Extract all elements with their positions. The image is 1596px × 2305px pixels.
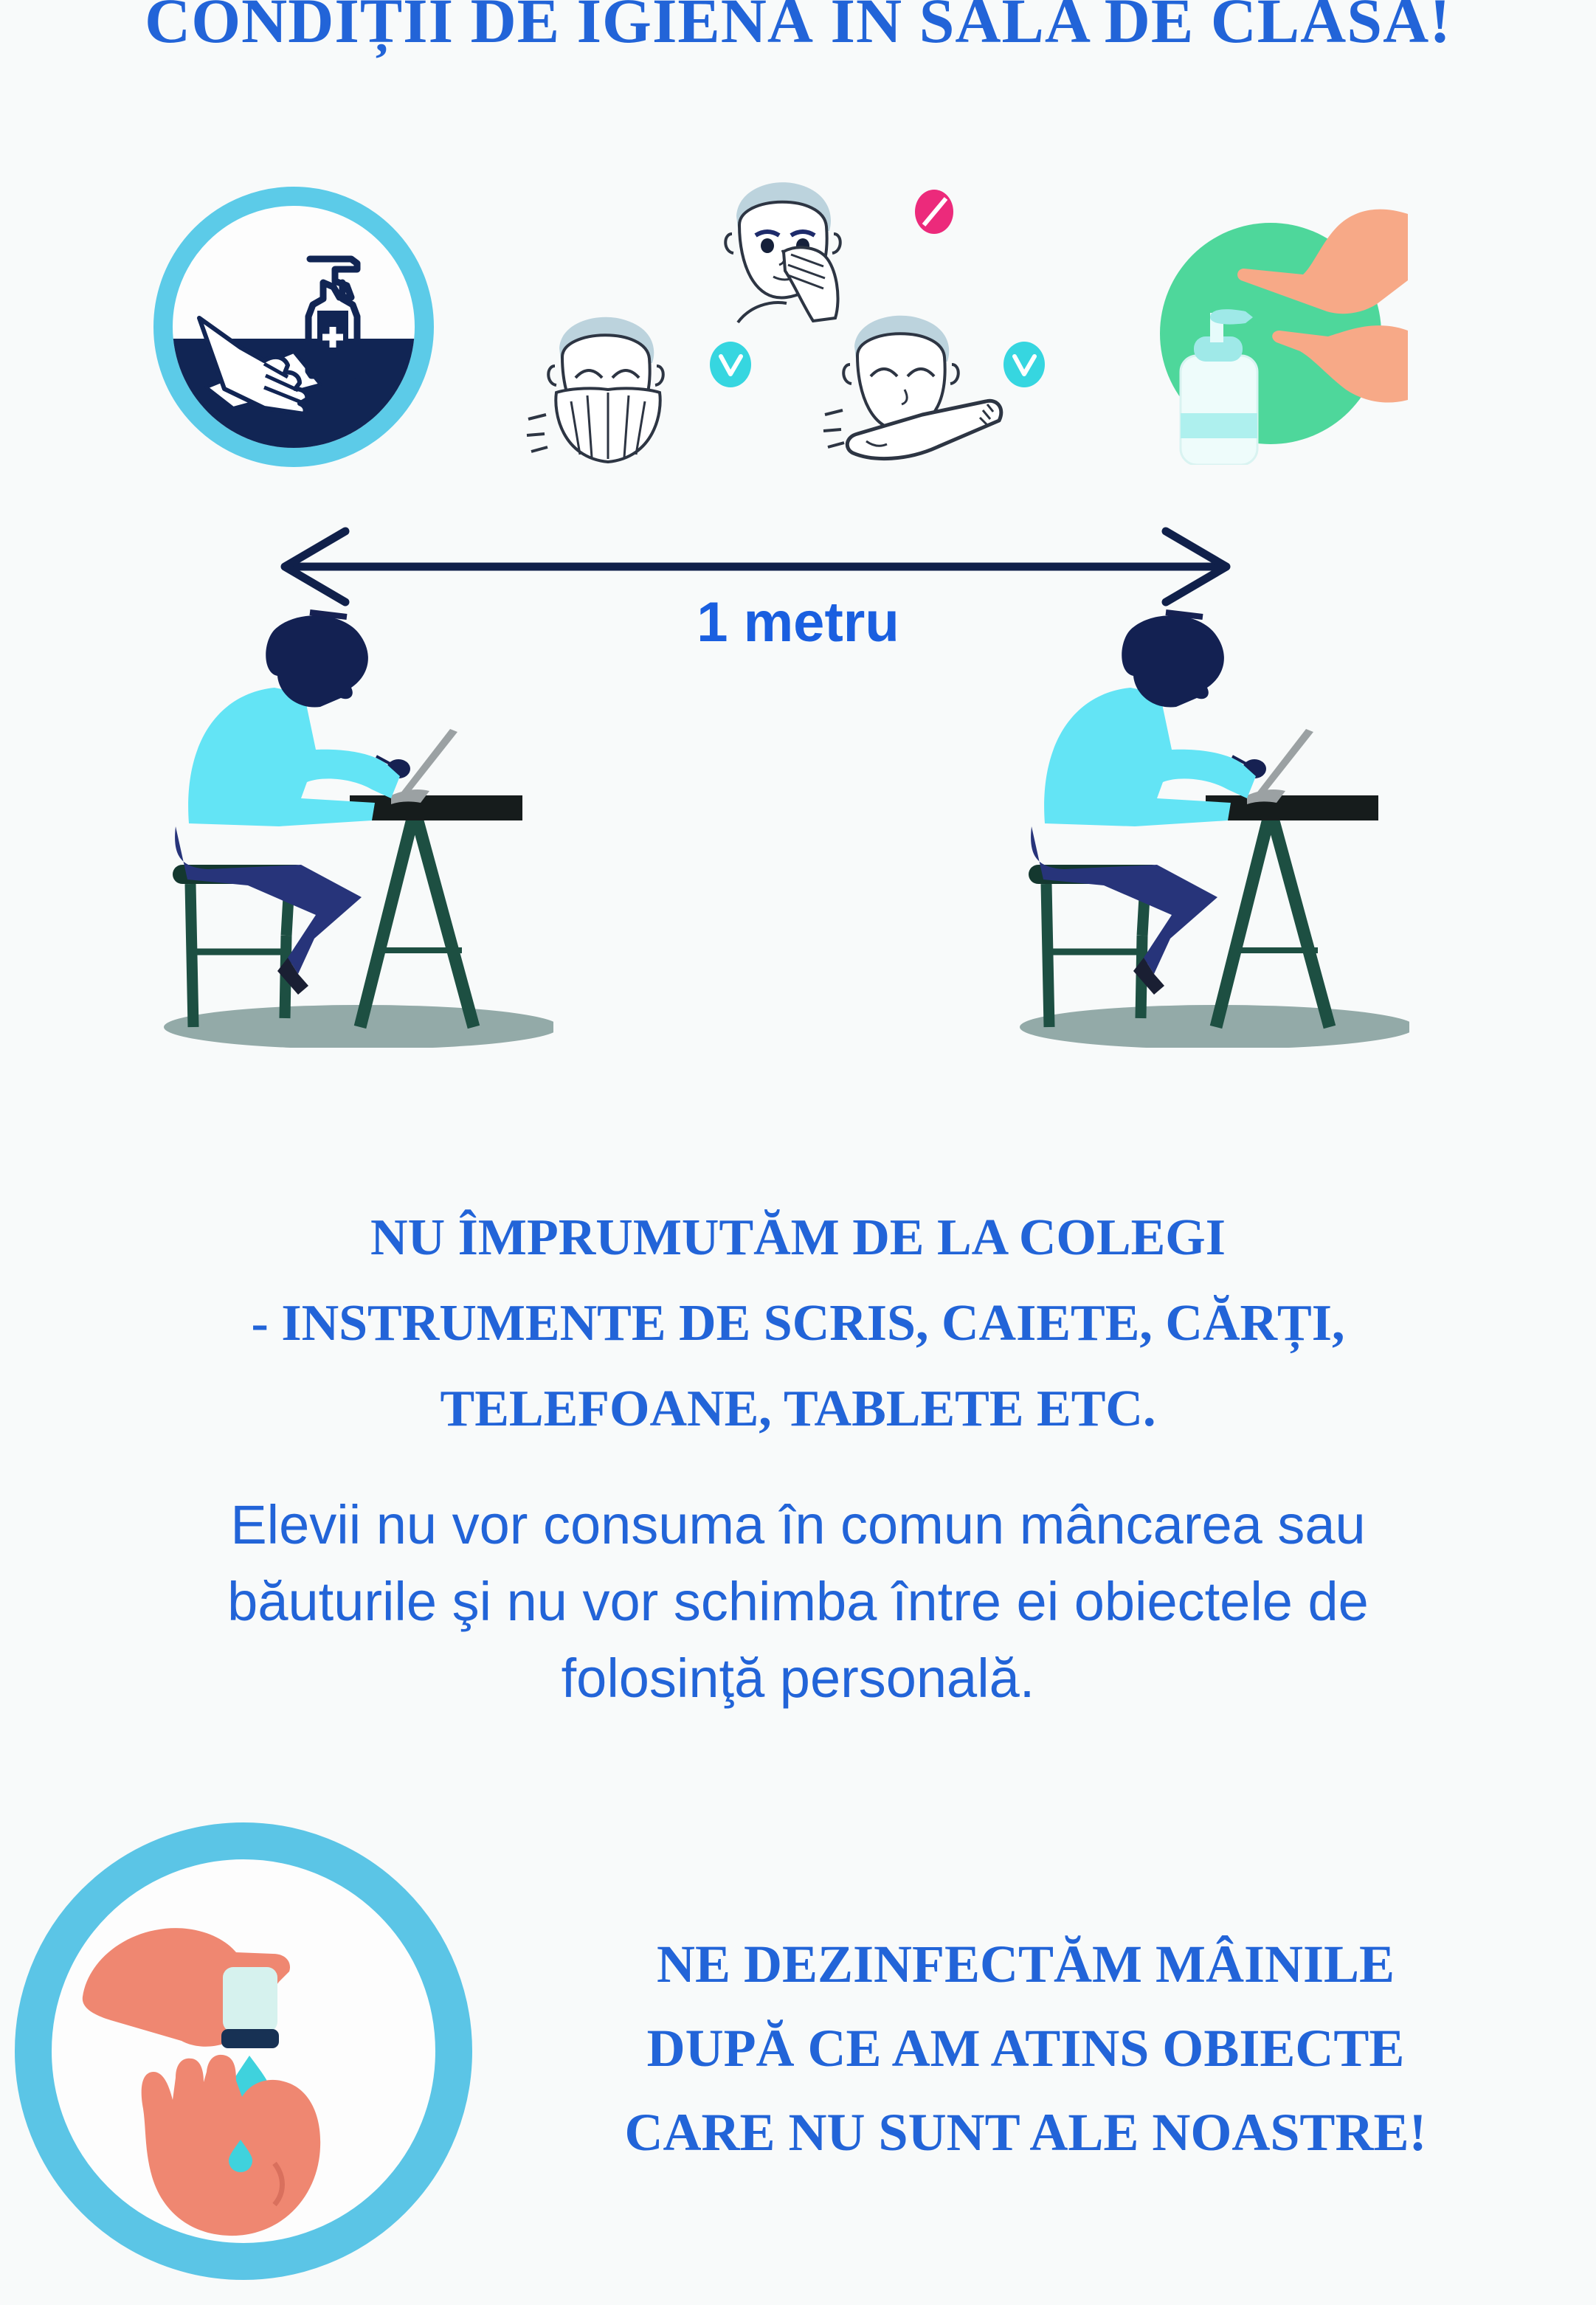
disinfect-hands-line-1: NE DEZINFECTĂM MÂINILE bbox=[472, 1922, 1579, 2006]
disinfect-surface-art bbox=[153, 187, 434, 467]
no-food-sharing-line-3: folosinţă personală. bbox=[30, 1640, 1566, 1717]
students-row bbox=[0, 605, 1596, 1048]
check-badge-icon-2 bbox=[1003, 342, 1045, 387]
disinfect-surface-icon bbox=[153, 187, 434, 467]
hand-sanitizer-drop-icon bbox=[15, 1822, 472, 2280]
student-figure-left bbox=[140, 605, 553, 1048]
hand-sanitizer-drop-art bbox=[15, 1822, 472, 2280]
no-sharing-text: NU ÎMPRUMUTĂM DE LA COLEGI - INSTRUMENTE… bbox=[0, 1195, 1596, 1452]
face-behaviour-group bbox=[517, 159, 1048, 483]
hand-sanitizer-pump-art bbox=[1142, 192, 1408, 465]
face-cover-hands-icon bbox=[517, 310, 701, 472]
face-cough-elbow-icon bbox=[812, 310, 1011, 472]
no-badge-icon bbox=[915, 190, 953, 234]
poster-root: CONDIȚII DE IGIENĂ ÎN SALA DE CLASĂ! bbox=[0, 0, 1596, 2305]
hand-sanitizer-pump-icon bbox=[1142, 192, 1408, 465]
no-food-sharing-line-2: băuturile şi nu vor schimba între ei obi… bbox=[30, 1563, 1566, 1640]
no-food-sharing-text: Elevii nu vor consuma în comun mâncarea … bbox=[30, 1487, 1566, 1717]
disinfect-hands-line-3: CARE NU SUNT ALE NOASTRE! bbox=[472, 2090, 1579, 2174]
student-figure-right bbox=[996, 605, 1409, 1048]
no-sharing-line-2: - INSTRUMENTE DE SCRIS, CAIETE, CĂRȚI, bbox=[0, 1281, 1596, 1366]
page-title: CONDIȚII DE IGIENĂ ÎN SALA DE CLASĂ! bbox=[0, 0, 1596, 58]
icon-row bbox=[0, 159, 1596, 491]
no-sharing-line-1: NU ÎMPRUMUTĂM DE LA COLEGI bbox=[0, 1195, 1596, 1281]
disinfect-hands-text: NE DEZINFECTĂM MÂINILE DUPĂ CE AM ATINS … bbox=[472, 1922, 1579, 2174]
check-badge-icon-1 bbox=[710, 342, 751, 387]
disinfect-hands-line-2: DUPĂ CE AM ATINS OBIECTE bbox=[472, 2006, 1579, 2090]
no-sharing-line-3: TELEFOANE, TABLETE ETC. bbox=[0, 1366, 1596, 1452]
no-food-sharing-line-1: Elevii nu vor consuma în comun mâncarea … bbox=[30, 1487, 1566, 1563]
